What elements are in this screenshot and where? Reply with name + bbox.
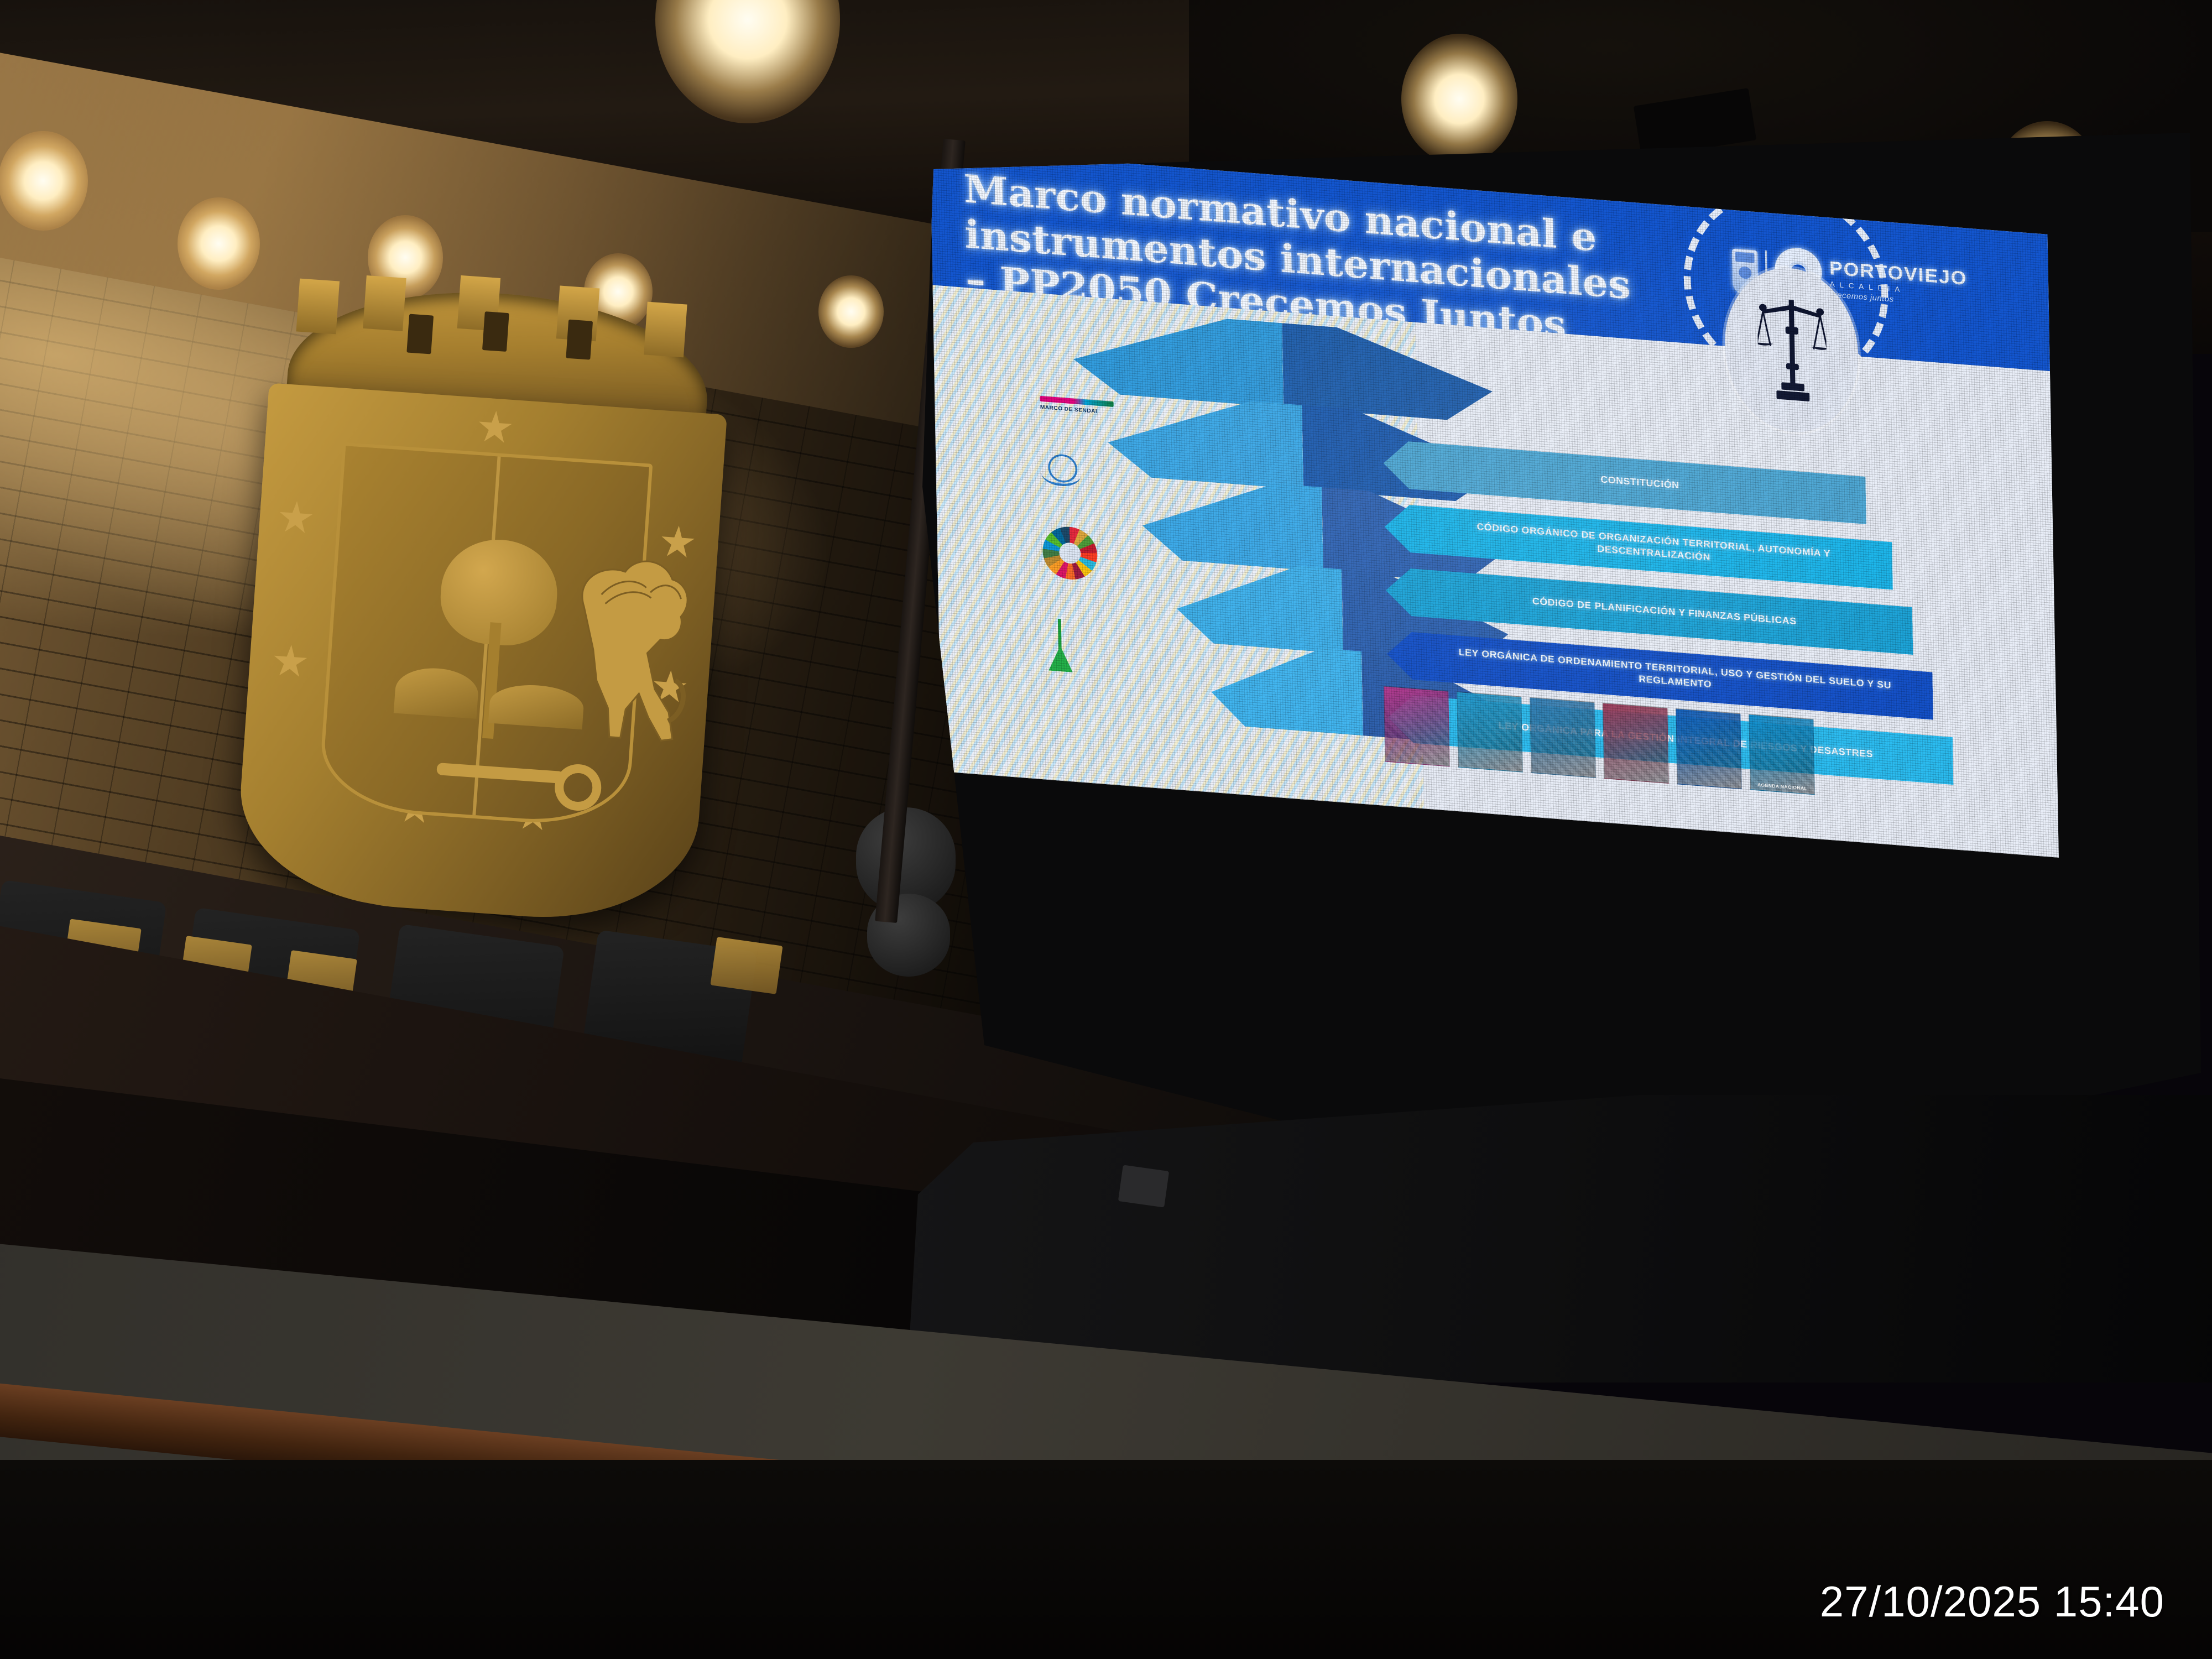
- sdg-wheel: [1042, 525, 1098, 582]
- united-nations-icon: [1041, 450, 1136, 492]
- document-cover-2[interactable]: [1457, 692, 1523, 773]
- camera-timestamp: 27/10/2025 15:40: [1820, 1577, 2164, 1627]
- coat-of-arms-shield: [233, 383, 727, 928]
- chevron-left-face: [1072, 307, 1284, 408]
- screen-frame: Marco normativo nacional e instrumentos …: [918, 133, 2201, 1200]
- ceiling-light: [0, 131, 88, 231]
- led-video-wall[interactable]: Marco normativo nacional e instrumentos …: [918, 133, 2201, 1200]
- ceiling-light: [178, 197, 260, 290]
- scales-of-justice-icon: [1757, 289, 1828, 408]
- sendai-label: MARCO DE SENDAI: [1040, 404, 1135, 417]
- document-cover-5[interactable]: [1676, 708, 1742, 789]
- ceiling-light: [818, 275, 884, 348]
- key-emblem: [436, 763, 564, 784]
- chevron-left-face: [1211, 640, 1363, 736]
- paris-agreement-icon: [1044, 618, 1140, 677]
- international-instrument-icons: MARCO DE SENDAI: [1040, 396, 1141, 718]
- presentation-slide[interactable]: Marco normativo nacional e instrumentos …: [930, 148, 2059, 858]
- screen-stand: [907, 1095, 2212, 1383]
- winged-lion-emblem: [556, 539, 699, 780]
- document-cover-6[interactable]: AGENDA NACIONAL: [1749, 714, 1815, 795]
- foreground-shadow: [0, 1460, 2212, 1659]
- chevron-left-face: [1141, 473, 1323, 572]
- document-cover-1[interactable]: [1384, 686, 1450, 766]
- sdg-color-wheel-icon: [1042, 525, 1139, 585]
- coat-of-arms-field: [317, 442, 653, 830]
- desk-plaque: [710, 937, 782, 994]
- document-cover-3[interactable]: [1530, 697, 1596, 778]
- chevron-left-face: [1107, 390, 1303, 489]
- photo-scene: Marco normativo nacional e instrumentos …: [0, 0, 2212, 1659]
- document-cover-4[interactable]: [1603, 703, 1669, 784]
- chevron-left-face: [1176, 556, 1343, 654]
- slide-body: CONSTITUCIÓNCÓDIGO ORGÁNICO DE ORGANIZAC…: [932, 285, 2058, 858]
- portoviejo-coat-of-arms: [216, 277, 747, 962]
- stand-bracket: [1118, 1165, 1169, 1207]
- logo-wordmark: PORTOVIEJO ALCALDIA crecemos juntos: [1829, 258, 1968, 309]
